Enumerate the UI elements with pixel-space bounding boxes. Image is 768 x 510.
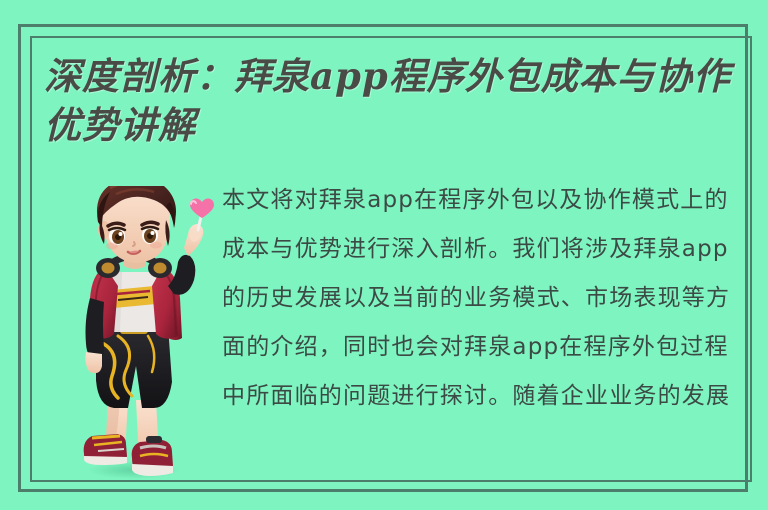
sneaker-right <box>132 436 173 476</box>
sneaker-left <box>84 434 127 465</box>
chibi-boy-character-illustration <box>62 186 222 482</box>
poster-canvas: 深度剖析：拜泉app程序外包成本与协作 优势讲解 <box>0 0 768 510</box>
page-edge-sliver <box>762 24 768 492</box>
poster-title: 深度剖析：拜泉app程序外包成本与协作 优势讲解 <box>44 52 744 150</box>
poster-body-text: 本文将对拜泉app在程序外包以及协作模式上的成本与优势进行深入剖析。我们将涉及拜… <box>222 176 742 421</box>
